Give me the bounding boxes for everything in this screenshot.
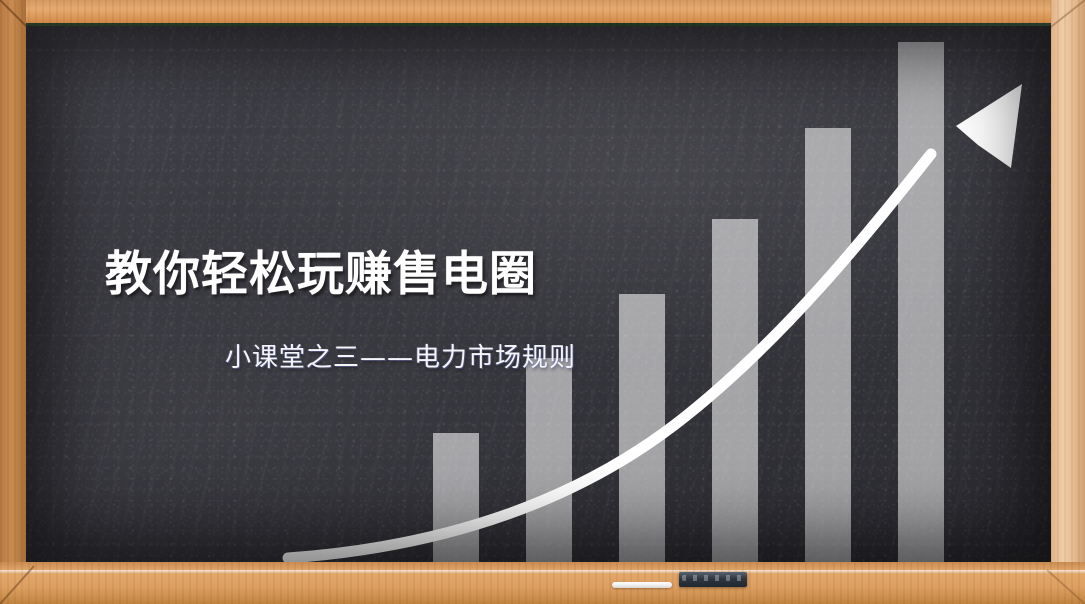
frame-bottom-rail [0,562,1085,604]
frame-right-rail [1051,0,1085,604]
page-title: 教你轻松玩赚售电圈 [105,247,537,302]
frame-top-rail [0,0,1085,26]
chalk-stick-icon[interactable] [612,582,672,588]
page-subtitle: 小课堂之三——电力市场规则 [225,337,576,374]
tray-shadow [0,570,1085,574]
chalkboard-surface: 教你轻松玩赚售电圈 小课堂之三——电力市场规则 [26,26,1051,562]
frame-left-rail [0,0,26,604]
slide-canvas: 教你轻松玩赚售电圈 小课堂之三——电力市场规则 [0,0,1085,604]
blackboard-eraser-icon[interactable] [679,572,747,587]
